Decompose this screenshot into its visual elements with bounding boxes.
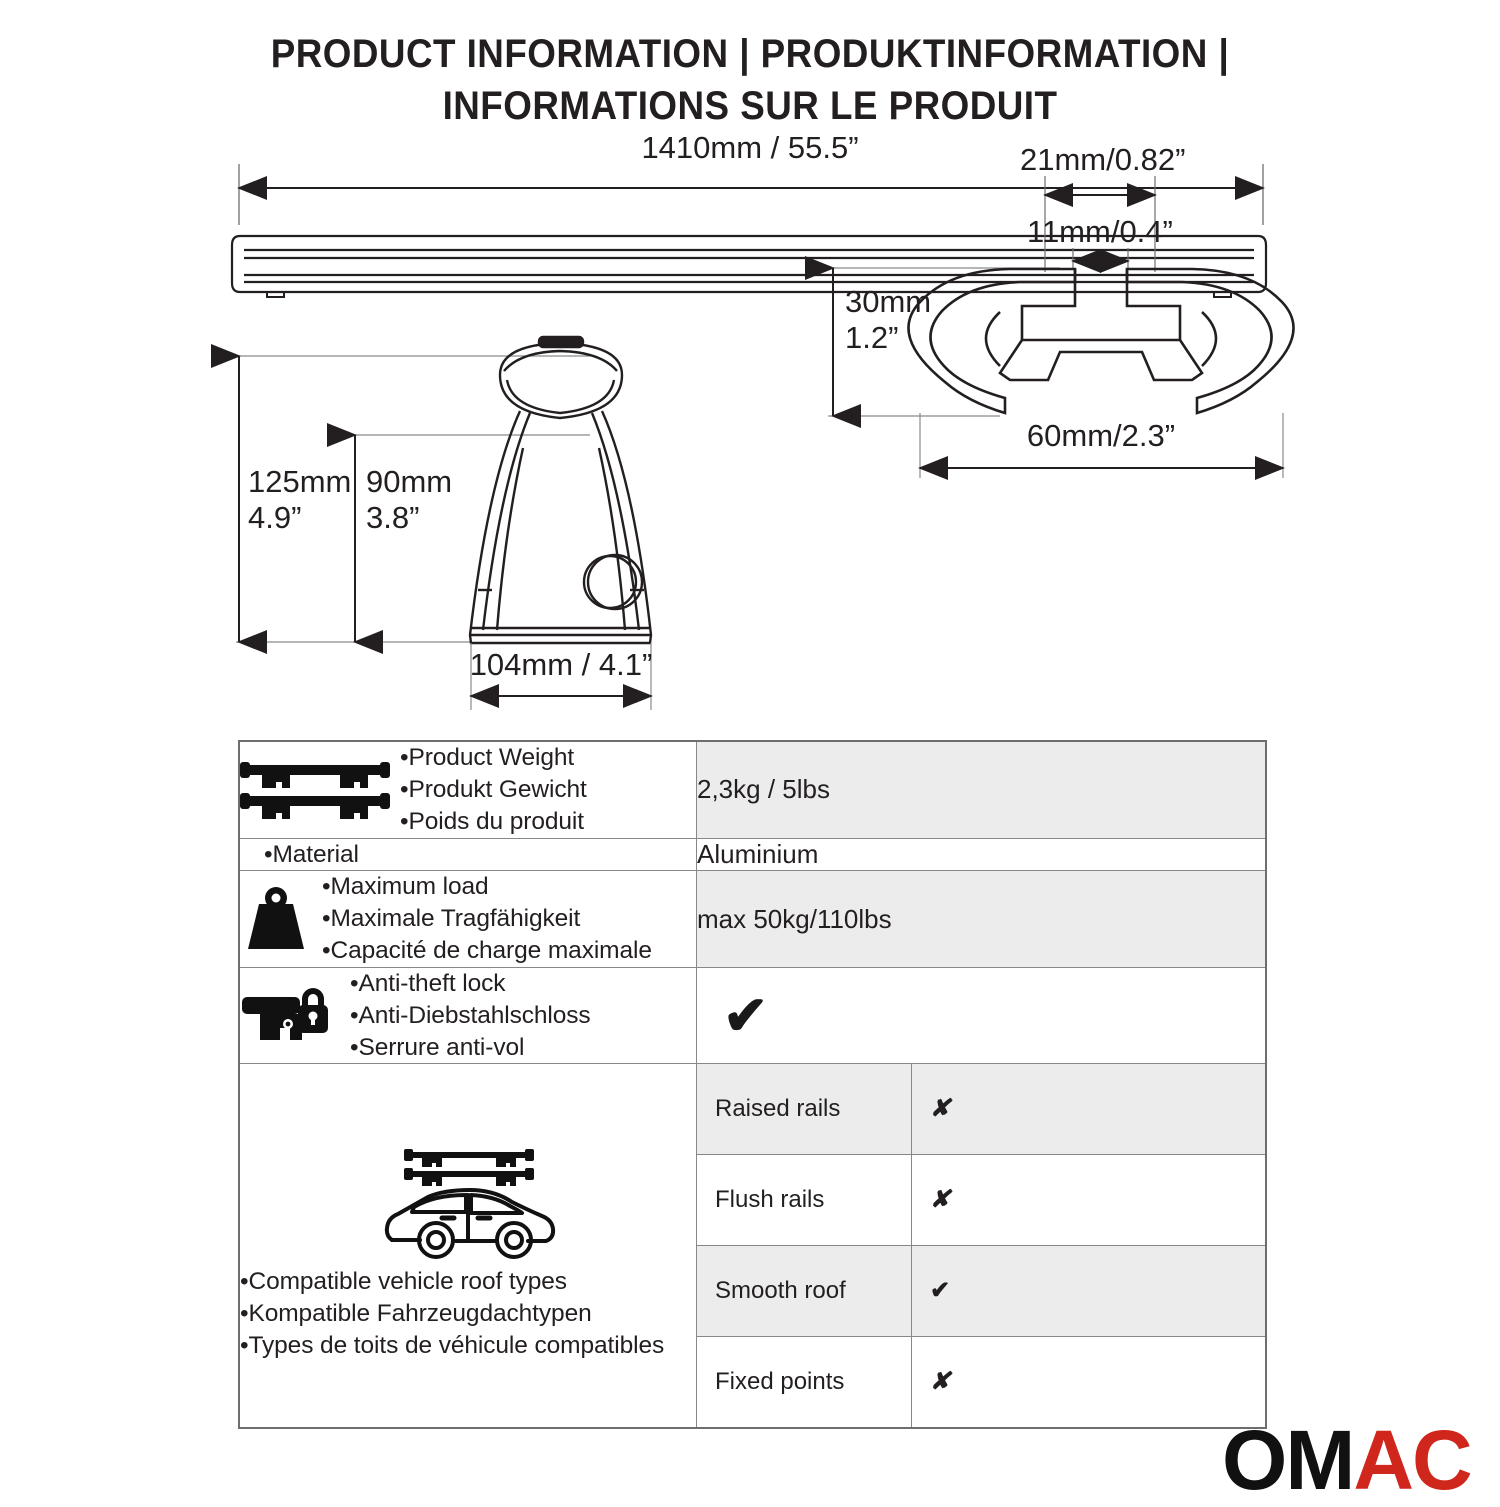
max-load-labels: •Maximum load •Maximale Tragfähigkeit •C… [322,871,652,967]
table-row: •Anti-theft lock •Anti-Diebstahlschloss … [239,967,1266,1064]
weight-label-cell: •Product Weight •Produkt Gewicht •Poids … [239,741,697,838]
height-125-in: 4.9” [248,500,301,535]
product-information-sheet: PRODUCT INFORMATION | PRODUKTINFORMATION… [0,0,1500,1500]
title-line-2: INFORMATIONS SUR LE PRODUIT [60,80,1440,132]
roof-types-value-cell: Raised rails ✘ Flush rails ✘ Smooth roof… [697,1064,1267,1429]
lock-value-cell: ✔ [697,967,1267,1064]
roof-types-labels: •Compatible vehicle roof types •Kompatib… [240,1266,696,1362]
roof-type-row: Smooth roof ✔ [697,1246,1265,1337]
weight-labels: •Product Weight •Produkt Gewicht •Poids … [400,742,587,838]
drawings-svg: 1410mm / 55.5” [0,130,1500,720]
cross-section-group: 21mm/0.82” 11mm/0.4” 30mm 1.2” [828,142,1294,478]
weight-label-fr: •Poids du produit [400,806,587,838]
technical-drawings: 1410mm / 55.5” [0,130,1500,720]
height-125-mm: 125mm [248,464,351,499]
roof-type-row: Flush rails ✘ [697,1155,1265,1246]
table-row: •Product Weight •Produkt Gewicht •Poids … [239,741,1266,838]
height-30-mm: 30mm [845,284,931,319]
weight-icon [240,883,312,955]
roof-type-mark-raised-rails: ✘ [912,1064,1266,1155]
roof-type-mark-smooth-roof: ✔ [912,1246,1266,1337]
material-label-cell: •Material [239,838,697,871]
table-row: •Material Aluminium [239,838,1266,871]
max-load-label-cell: •Maximum load •Maximale Tragfähigkeit •C… [239,871,697,968]
width-60-label: 60mm/2.3” [1027,418,1175,453]
foot-side-view-group: 125mm 4.9” 90mm 3.8” [236,337,652,710]
material-labels: •Material [264,839,359,871]
material-value-cell: Aluminium [697,838,1267,871]
max-load-label-fr: •Capacité de charge maximale [322,935,652,967]
weight-value-cell: 2,3kg / 5lbs [697,741,1267,838]
roof-type-mark-fixed-points: ✘ [912,1337,1266,1428]
lock-label-fr: •Serrure anti-vol [350,1032,591,1064]
slot-inner-label: 11mm/0.4” [1027,214,1173,249]
weight-label-de: •Produkt Gewicht [400,774,587,806]
page-title: PRODUCT INFORMATION | PRODUKTINFORMATION… [0,28,1500,132]
roof-rack-bars-icon [240,759,390,821]
lock-label-en: •Anti-theft lock [350,968,591,1000]
roof-types-table: Raised rails ✘ Flush rails ✘ Smooth roof… [697,1064,1265,1427]
slot-outer-label: 21mm/0.82” [1020,142,1185,177]
weight-label-en: •Product Weight [400,742,587,774]
crossbar-length-label: 1410mm / 55.5” [641,130,858,165]
roof-type-mark-flush-rails: ✘ [912,1155,1266,1246]
roof-types-label-en: •Compatible vehicle roof types [240,1266,696,1298]
roof-type-name-raised-rails: Raised rails [697,1064,912,1155]
title-line-1: PRODUCT INFORMATION | PRODUKTINFORMATION… [60,28,1440,80]
max-load-label-en: •Maximum load [322,871,652,903]
roof-types-label-de: •Kompatible Fahrzeugdachtypen [240,1298,696,1330]
roof-type-name-fixed-points: Fixed points [697,1337,912,1428]
roof-type-row: Raised rails ✘ [697,1064,1265,1155]
omac-logo: OM AC [1222,1418,1471,1502]
lock-check-mark: ✔ [697,989,1265,1043]
height-30-in: 1.2” [845,320,898,355]
roof-type-name-flush-rails: Flush rails [697,1155,912,1246]
table-row: •Maximum load •Maximale Tragfähigkeit •C… [239,871,1266,968]
lock-labels: •Anti-theft lock •Anti-Diebstahlschloss … [350,968,591,1064]
lock-label-de: •Anti-Diebstahlschloss [350,1000,591,1032]
lock-label-cell: •Anti-theft lock •Anti-Diebstahlschloss … [239,967,697,1064]
roof-type-row: Fixed points ✘ [697,1337,1265,1428]
height-90-in: 3.8” [366,500,419,535]
max-load-value-cell: max 50kg/110lbs [697,871,1267,968]
specification-table: •Product Weight •Produkt Gewicht •Poids … [238,740,1267,1429]
logo-text-ac: AC [1353,1418,1470,1502]
roof-types-label-cell: •Compatible vehicle roof types •Kompatib… [239,1064,697,1429]
lock-icon [240,981,332,1051]
car-with-rack-icon [378,1144,558,1262]
max-load-label-de: •Maximale Tragfähigkeit [322,903,652,935]
material-label-en: •Material [264,839,359,871]
height-90-mm: 90mm [366,464,452,499]
roof-types-label-fr: •Types de toits de véhicule compatibles [240,1330,696,1362]
table-row: •Compatible vehicle roof types •Kompatib… [239,1064,1266,1429]
logo-text-om: OM [1222,1418,1353,1502]
roof-type-name-smooth-roof: Smooth roof [697,1246,912,1337]
width-104-label: 104mm / 4.1” [470,647,653,682]
